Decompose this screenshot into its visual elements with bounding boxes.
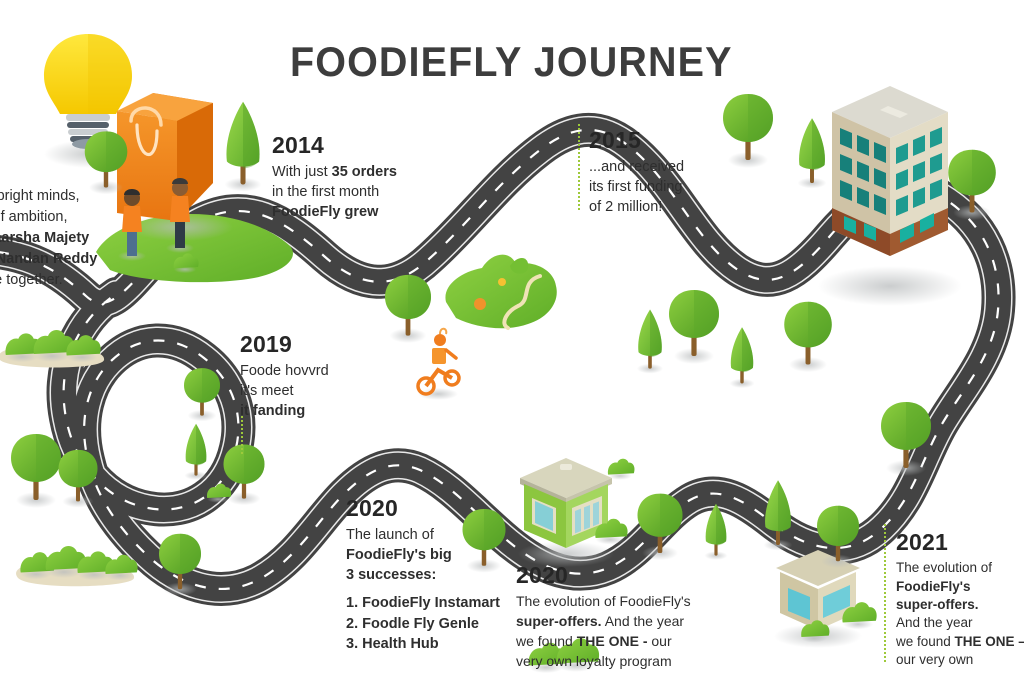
m2020b-rest1: And the year: [602, 613, 685, 629]
milestone-2020a-list: 1. FoodieFly Instamart 2. Foodle Fly Gen…: [346, 593, 526, 655]
m2020b-rest2: our: [648, 633, 672, 649]
m2021-pre: we found: [896, 634, 955, 649]
m2021-line-2: FoodieFly's: [896, 578, 1024, 596]
milestone-2014-body: With just 35 orders in the first month F…: [272, 162, 432, 222]
list-item: 2. Foodle Fly Genle: [346, 614, 526, 635]
m2019-line-1: Foode hovvrd: [240, 361, 400, 381]
bush-row-left: [16, 546, 138, 586]
milestone-2021-body: The evolution of FoodieFly's super-offer…: [896, 559, 1024, 669]
m2021-line-1: The evolution of: [896, 559, 1024, 577]
park-patch: [445, 255, 556, 329]
m2020a-line-1: The launch of: [346, 525, 526, 545]
infographic-canvas: FOODIEFLY JOURNEY wp bright minds, all o…: [0, 0, 1024, 683]
m2014-line-1: With just 35 orders: [272, 162, 432, 182]
m2014-pre: With just: [272, 164, 332, 180]
bush-row-topleft: [0, 330, 104, 368]
m2019-line-2: it's meet: [240, 381, 400, 401]
milestone-2014-year: 2014: [272, 133, 432, 158]
dotted-connector-2021: [884, 524, 886, 662]
milestone-2015: 2015 ...and received its first funding o…: [589, 128, 729, 217]
milestone-2015-year: 2015: [589, 128, 729, 153]
milestone-2020b-year: 2020: [516, 563, 716, 588]
m2020b-line-1: The evolution of FoodieFly's: [516, 592, 716, 612]
intro-line-4: nd Nandan Reddy: [0, 249, 142, 270]
milestone-intro-body: wp bright minds, all of ambition, ntraar…: [0, 186, 142, 290]
m2019-line-3: it fanding: [240, 401, 400, 421]
m2021-line-3: super-offers.: [896, 596, 1024, 614]
intro-line-5: ome together.: [0, 270, 142, 291]
founder-figure-right: [166, 178, 194, 253]
milestone-2019-body: Foode hovvrd it's meet it fanding: [240, 361, 400, 421]
m2014-line-3: FoodieFly grew: [272, 202, 432, 222]
m2020b-pre: we found: [516, 633, 577, 649]
milestone-2020-loyalty: 2020 The evolution of FoodieFly's super-…: [516, 563, 716, 672]
m2014-bold: 35 orders: [332, 164, 397, 180]
m2021-line-5: we found THE ONE –: [896, 633, 1024, 651]
office-tower-building: [818, 86, 962, 306]
beige-shop-building: [774, 550, 877, 648]
m2020b-bold1: super-offers.: [516, 613, 602, 629]
m2020b-bold2: THE ONE -: [577, 633, 648, 649]
milestone-2019: 2019 Foode hovvrd it's meet it fanding: [240, 332, 400, 421]
m2020a-line-2: FoodieFly's big: [346, 545, 526, 565]
milestone-2019-year: 2019: [240, 332, 400, 357]
list-item: 3. Health Hub: [346, 634, 526, 655]
m2015-line-2: its first funding: [589, 177, 729, 197]
m2021-line-6: our very own: [896, 651, 1024, 669]
m2015-line-1: ...and received: [589, 157, 729, 177]
milestone-2015-body: ...and received its first funding of 2 m…: [589, 157, 729, 217]
milestone-2014: 2014 With just 35 orders in the first mo…: [272, 133, 432, 222]
milestone-2020a-body: The launch of FoodieFly's big 3 successe…: [346, 525, 526, 585]
milestone-intro: wp bright minds, all of ambition, ntraar…: [0, 186, 142, 290]
intro-line-1: wp bright minds,: [0, 186, 142, 207]
page-title: FOODIEFLY JOURNEY: [290, 38, 733, 86]
m2020b-line-3: we found THE ONE - our: [516, 632, 716, 652]
milestone-2020-launch: 2020 The launch of FoodieFly's big 3 suc…: [346, 496, 526, 655]
m2020a-line-3: 3 successes:: [346, 565, 526, 585]
intro-line-3: ntraarsha Majety: [0, 228, 142, 249]
milestone-2021: 2021 The evolution of FoodieFly's super-…: [896, 530, 1024, 669]
milestone-2020b-body: The evolution of FoodieFly's super-offer…: [516, 592, 716, 672]
milestone-2020a-year: 2020: [346, 496, 526, 521]
m2014-line-2: in the first month: [272, 182, 432, 202]
green-shop-building: [518, 458, 628, 567]
idea-lightbulb-icon: [44, 34, 136, 168]
list-item: 1. FoodieFly Instamart: [346, 593, 526, 614]
m2015-line-3: of 2 million!: [589, 197, 729, 217]
delivery-rider-icon: [418, 329, 459, 400]
milestone-2021-year: 2021: [896, 530, 1024, 555]
m2020b-line-2: super-offers. And the year: [516, 612, 716, 632]
m2021-line-4: And the year: [896, 614, 1024, 632]
m2020b-line-4: very own loyalty program: [516, 652, 716, 672]
m2021-bold: THE ONE –: [955, 634, 1024, 649]
intro-line-2: all of ambition,: [0, 207, 142, 228]
dotted-connector-2015: [578, 124, 580, 210]
